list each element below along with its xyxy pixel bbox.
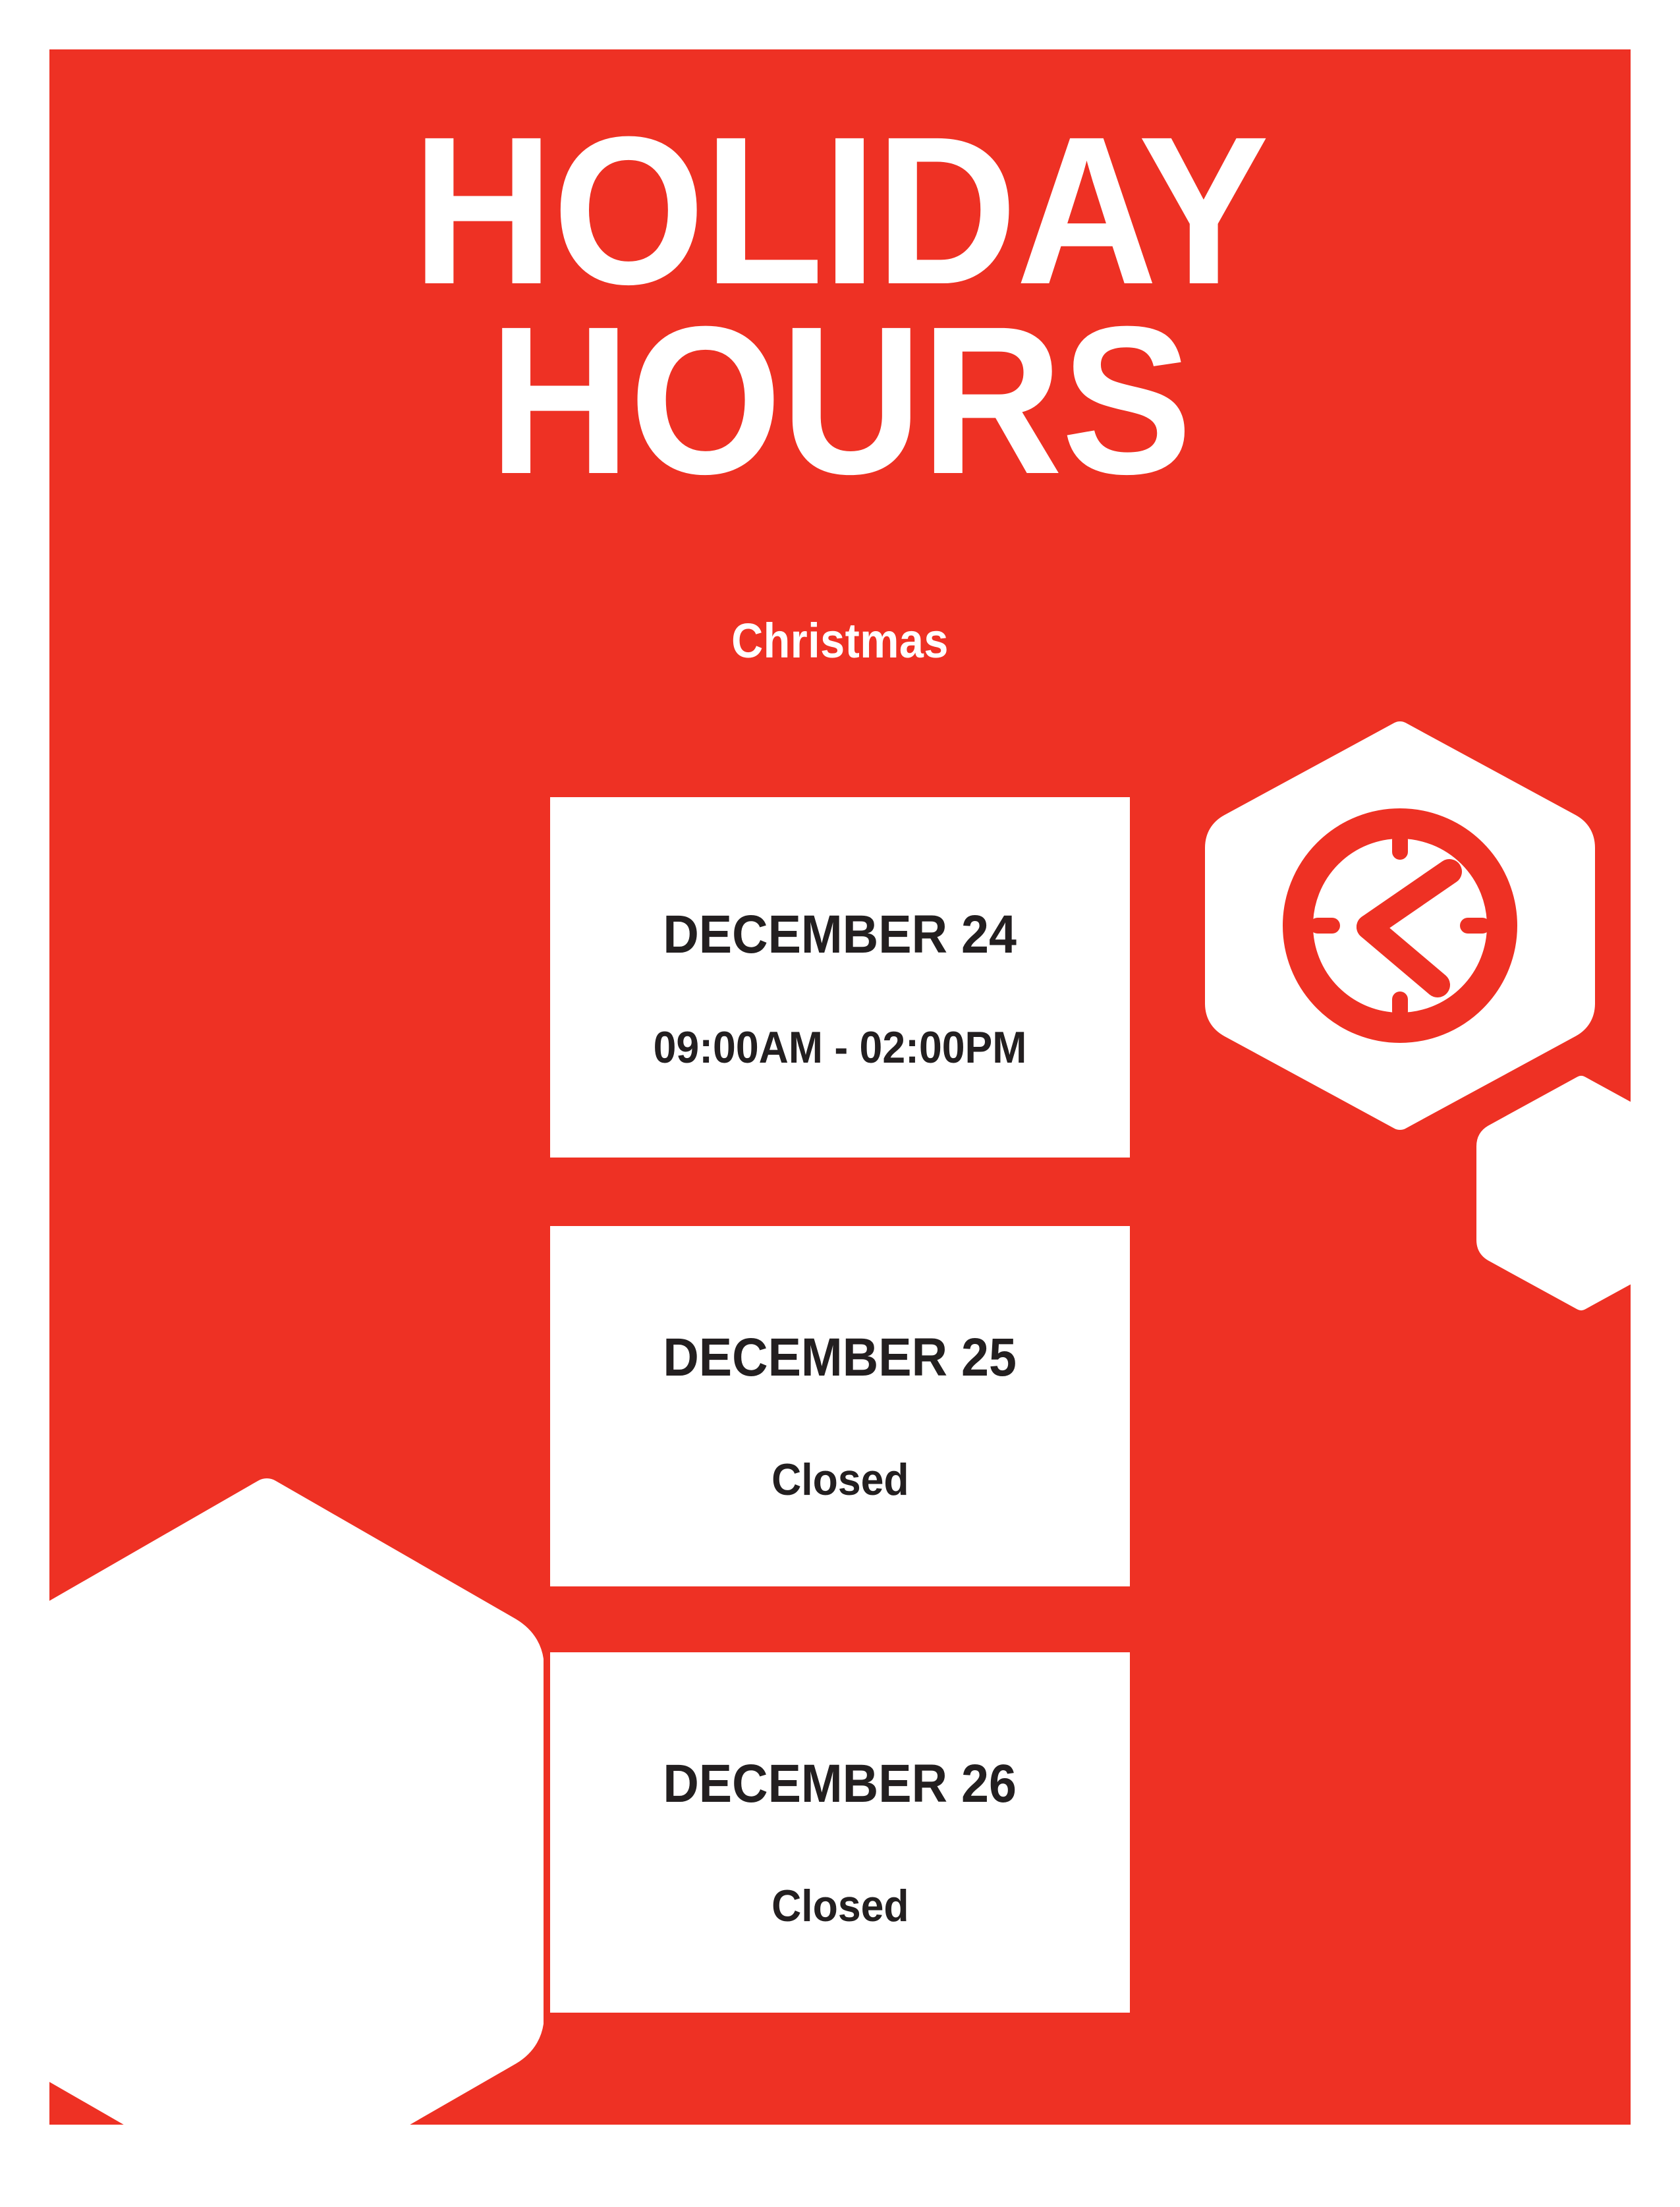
title-line-2: HOURS [105, 305, 1575, 495]
clock-hexagon-icon [1199, 721, 1601, 1130]
schedule-card-hours: 09:00AM - 02:00PM [654, 1025, 1027, 1070]
poster-background: HOLIDAY HOURS Christmas DECEMBER 24 09:0… [49, 49, 1631, 2125]
schedule-card-hours: Closed [771, 1884, 909, 1928]
schedule-card: DECEMBER 24 09:00AM - 02:00PM [550, 797, 1130, 1158]
hexagon-accent-icon [1472, 1075, 1680, 1312]
schedule-card-hours: Closed [771, 1457, 909, 1502]
schedule-card-date: DECEMBER 25 [663, 1331, 1017, 1385]
page-title: HOLIDAY HOURS [49, 115, 1631, 495]
page-subtitle: Christmas [128, 613, 1552, 669]
title-line-1: HOLIDAY [105, 115, 1575, 305]
schedule-card-date: DECEMBER 24 [663, 908, 1017, 962]
schedule-card: DECEMBER 26 Closed [550, 1652, 1130, 2013]
schedule-card-date: DECEMBER 26 [663, 1757, 1017, 1811]
hexagon-large-icon [0, 1476, 544, 2207]
schedule-card: DECEMBER 25 Closed [550, 1226, 1130, 1586]
